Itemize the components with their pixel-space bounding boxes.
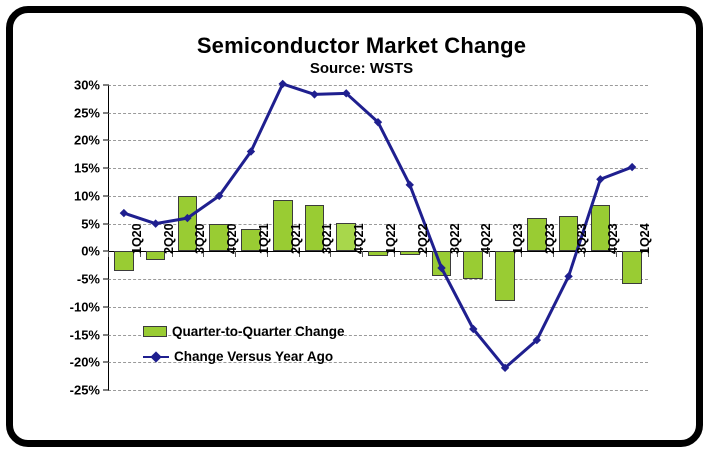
y-axis-tick-mark (103, 140, 109, 141)
y-axis-tick-label: 20% (74, 133, 100, 148)
legend-item-line: Change Versus Year Ago (143, 344, 393, 369)
chart-title: Semiconductor Market Change (13, 33, 709, 59)
x-axis-label-2Q22: 2Q22 (416, 224, 430, 255)
y-axis-tick-label: -10% (70, 299, 100, 314)
x-axis-label-3Q21: 3Q21 (320, 224, 334, 255)
gridline (108, 140, 648, 141)
x-axis-label-2Q21: 2Q21 (289, 224, 303, 255)
y-axis-tick-label: 5% (81, 216, 100, 231)
y-axis-line (108, 85, 109, 390)
chart-frame: Semiconductor Market Change Source: WSTS… (6, 6, 703, 447)
line-marker-2Q21 (279, 80, 287, 88)
line-marker-1Q20 (120, 209, 128, 217)
x-axis-label-1Q24: 1Q24 (638, 224, 652, 255)
line-marker-1Q24 (628, 163, 636, 171)
y-axis-tick-label: -5% (77, 272, 100, 287)
legend-label-year-ago: Change Versus Year Ago (174, 349, 333, 364)
y-axis-tick-mark (103, 112, 109, 113)
chart-legend: Quarter-to-Quarter Change Change Versus … (143, 319, 393, 369)
y-axis-tick-label: 10% (74, 188, 100, 203)
y-axis-tick-label: -20% (70, 355, 100, 370)
gridline (108, 168, 648, 169)
line-marker-2Q23 (533, 336, 541, 344)
x-axis-label-1Q23: 1Q23 (511, 224, 525, 255)
x-axis-label-3Q23: 3Q23 (575, 224, 589, 255)
gridline (108, 279, 648, 280)
bar-3Q22 (432, 251, 452, 276)
y-axis-tick-mark (103, 334, 109, 335)
line-marker-3Q21 (310, 90, 318, 98)
y-axis-tick-label: 0% (81, 244, 100, 259)
y-axis-tick-label: 25% (74, 105, 100, 120)
x-axis-label-1Q22: 1Q22 (384, 224, 398, 255)
gridline (108, 307, 648, 308)
y-axis-tick-mark (103, 223, 109, 224)
y-axis-tick-mark (103, 362, 109, 363)
gridline (108, 390, 648, 391)
y-axis-tick-mark (103, 168, 109, 169)
y-axis-tick-mark (103, 85, 109, 86)
bar-4Q22 (463, 251, 483, 279)
chart-canvas: Semiconductor Market Change Source: WSTS… (13, 13, 709, 454)
y-axis-tick-mark (103, 306, 109, 307)
legend-label-quarter-to-quarter: Quarter-to-Quarter Change (172, 324, 345, 339)
line-marker-1Q22 (374, 118, 382, 126)
y-axis-tick-mark (103, 390, 109, 391)
line-marker-4Q21 (342, 89, 350, 97)
x-axis-label-1Q20: 1Q20 (130, 224, 144, 255)
chart-subtitle: Source: WSTS (13, 60, 709, 77)
x-axis-label-3Q22: 3Q22 (448, 224, 462, 255)
bar-swatch-icon (143, 326, 167, 337)
line-marker-4Q22 (469, 325, 477, 333)
gridline (108, 85, 648, 86)
line-marker-1Q21 (247, 147, 255, 155)
y-axis-tick-label: 30% (74, 78, 100, 93)
line-diamond-marker-icon (143, 351, 169, 363)
x-axis-label-2Q23: 2Q23 (543, 224, 557, 255)
y-axis-tick-label: 15% (74, 161, 100, 176)
y-axis-tick-label: -25% (70, 383, 100, 398)
x-axis-label-4Q20: 4Q20 (225, 224, 239, 255)
x-axis-label-4Q22: 4Q22 (479, 224, 493, 255)
line-marker-4Q23 (596, 175, 604, 183)
x-axis-tick-mark (108, 251, 109, 257)
line-marker-2Q22 (406, 181, 414, 189)
y-axis-tick-label: -15% (70, 327, 100, 342)
x-axis-label-4Q21: 4Q21 (352, 224, 366, 255)
gridline (108, 113, 648, 114)
y-axis-tick-mark (103, 279, 109, 280)
bar-1Q24 (622, 251, 642, 283)
bar-1Q23 (495, 251, 515, 301)
x-axis-label-2Q20: 2Q20 (162, 224, 176, 255)
x-axis-label-1Q21: 1Q21 (257, 224, 271, 255)
y-axis-tick-mark (103, 195, 109, 196)
legend-item-bars: Quarter-to-Quarter Change (143, 319, 393, 344)
x-axis-label-3Q20: 3Q20 (193, 224, 207, 255)
bar-1Q20 (114, 251, 134, 270)
line-marker-1Q23 (501, 364, 509, 372)
x-axis-label-4Q23: 4Q23 (606, 224, 620, 255)
